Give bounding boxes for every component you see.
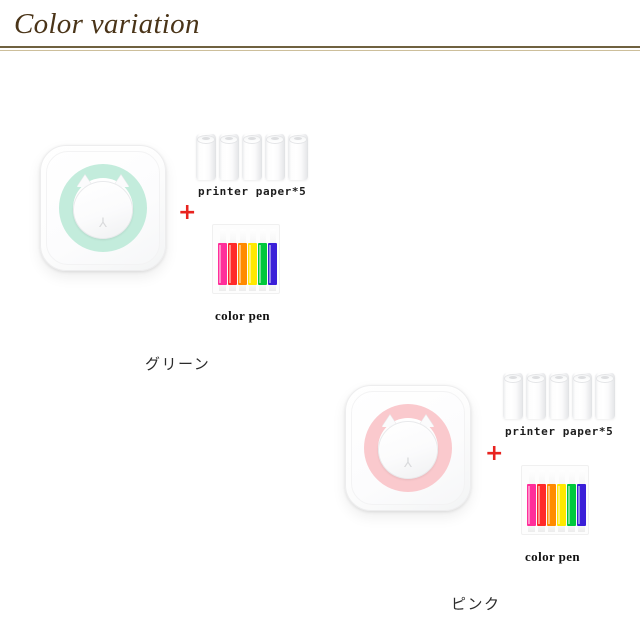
color-pen (218, 229, 227, 291)
header-divider-primary (0, 46, 640, 48)
paper-roll-caption: printer paper*5 (198, 185, 306, 198)
pen-gloss (548, 486, 550, 524)
color-pen (537, 470, 546, 532)
pen-gloss (538, 486, 540, 524)
page-header: Color variation (0, 0, 640, 54)
pen-foot (229, 285, 236, 291)
pen-gloss (528, 486, 530, 524)
pen-gloss (558, 486, 560, 524)
pen-foot (219, 285, 226, 291)
pen-gloss (568, 486, 570, 524)
cat-face-button[interactable]: ⅄ (376, 415, 440, 479)
header-divider-secondary (0, 50, 640, 51)
color-pen-caption: color pen (215, 308, 270, 324)
pen-gloss (239, 245, 241, 283)
page-title: Color variation (14, 7, 200, 41)
paper-roll (503, 373, 523, 419)
pen-tip (569, 470, 575, 484)
color-pen (547, 470, 556, 532)
color-pen (238, 229, 247, 291)
cat-face-button[interactable]: ⅄ (71, 175, 135, 239)
paper-roll (549, 373, 569, 419)
color-pen-group (218, 229, 277, 291)
pen-tip (250, 229, 256, 243)
pen-tip (260, 229, 266, 243)
cat-nose-icon: ⅄ (402, 458, 414, 467)
pen-tip (230, 229, 236, 243)
pen-foot (548, 526, 555, 532)
color-pen (268, 229, 277, 291)
plus-icon: + (485, 443, 503, 465)
pen-tip (539, 470, 545, 484)
color-pen (527, 470, 536, 532)
pen-tip (579, 470, 585, 484)
pen-foot (249, 285, 256, 291)
paper-roll (196, 134, 216, 180)
pen-foot (578, 526, 585, 532)
pen-tip (549, 470, 555, 484)
paper-roll (526, 373, 546, 419)
cat-head-icon (73, 181, 133, 239)
pen-tip (240, 229, 246, 243)
pen-foot (528, 526, 535, 532)
paper-roll (265, 134, 285, 180)
paper-roll-group-pink (503, 373, 615, 419)
variation-label-pink: ピンク (451, 593, 501, 614)
color-pen-pack-green (212, 224, 280, 294)
variation-label-green: グリーン (145, 353, 210, 374)
color-pen-caption: color pen (525, 549, 580, 565)
color-pen-group (527, 470, 586, 532)
color-pen (557, 470, 566, 532)
paper-roll (595, 373, 615, 419)
pen-foot (259, 285, 266, 291)
cat-head-icon (378, 421, 438, 479)
pen-tip (220, 229, 226, 243)
printer-device-green[interactable]: ⅄ (40, 145, 166, 271)
pen-tip (559, 470, 565, 484)
pen-gloss (259, 245, 261, 283)
pen-foot (558, 526, 565, 532)
color-pen (248, 229, 257, 291)
paper-roll (288, 134, 308, 180)
paper-roll (242, 134, 262, 180)
paper-roll (219, 134, 239, 180)
variation-pink: ⅄ + printer paper*5 (333, 365, 633, 625)
pen-gloss (229, 245, 231, 283)
pen-foot (239, 285, 246, 291)
paper-roll-group-green (196, 134, 308, 180)
color-pen (228, 229, 237, 291)
plus-icon: + (178, 202, 196, 224)
color-pen (577, 470, 586, 532)
paper-roll (572, 373, 592, 419)
variation-green: ⅄ + printer paper*5 (30, 120, 360, 375)
cat-nose-icon: ⅄ (97, 218, 109, 227)
color-pen-pack-pink (521, 465, 589, 535)
printer-device-pink[interactable]: ⅄ (345, 385, 471, 511)
color-pen (258, 229, 267, 291)
pen-gloss (578, 486, 580, 524)
pen-gloss (249, 245, 251, 283)
paper-roll-caption: printer paper*5 (505, 425, 613, 438)
pen-foot (269, 285, 276, 291)
color-pen (567, 470, 576, 532)
pen-tip (270, 229, 276, 243)
pen-foot (568, 526, 575, 532)
pen-tip (529, 470, 535, 484)
pen-foot (538, 526, 545, 532)
pen-gloss (219, 245, 221, 283)
pen-gloss (269, 245, 271, 283)
